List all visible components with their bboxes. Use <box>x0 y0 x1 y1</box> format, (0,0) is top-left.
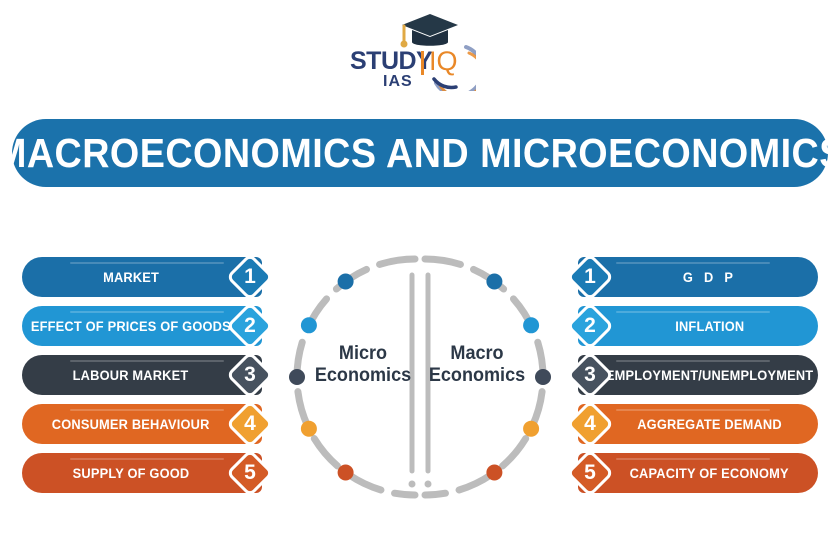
badge-number: 4 <box>228 402 272 446</box>
bar-highlight <box>616 311 770 313</box>
list-item[interactable]: EMPLOYMENT/UNEMPLOYMENT3 <box>548 353 818 397</box>
item-bar[interactable]: LABOUR MARKET <box>22 355 262 395</box>
item-number-badge[interactable]: 5 <box>228 451 272 495</box>
item-number-badge[interactable]: 2 <box>568 304 612 348</box>
arc-dot <box>523 317 539 333</box>
arc-dot <box>523 421 539 437</box>
list-item[interactable]: EFFECT OF PRICES OF GOODS2 <box>22 304 292 348</box>
brand-logo: STUDY IQ IAS <box>0 8 840 100</box>
item-label: SUPPLY OF GOOD <box>72 466 212 481</box>
item-number-badge[interactable]: 4 <box>568 402 612 446</box>
arc-dot <box>486 274 502 290</box>
item-label: CONSUMER BEHAVIOUR <box>52 417 233 432</box>
divider-dot-right <box>425 481 432 488</box>
logo-iq-text: IQ <box>429 48 458 75</box>
bar-highlight <box>616 360 770 362</box>
item-number-badge[interactable]: 2 <box>228 304 272 348</box>
arc-dot <box>289 369 305 385</box>
item-number-badge[interactable]: 4 <box>228 402 272 446</box>
item-number-badge[interactable]: 5 <box>568 451 612 495</box>
page-title-banner: MACROECONOMICS AND MICROECONOMICS <box>12 119 828 187</box>
item-number-badge[interactable]: 1 <box>568 255 612 299</box>
bar-highlight <box>70 360 224 362</box>
badge-number: 2 <box>228 304 272 348</box>
center-diagram: Micro Economics Macro Economics <box>282 253 558 501</box>
list-item[interactable]: LABOUR MARKET3 <box>22 353 292 397</box>
item-number-badge[interactable]: 3 <box>568 353 612 397</box>
badge-number: 1 <box>568 255 612 299</box>
list-item[interactable]: AGGREGATE DEMAND4 <box>548 402 818 446</box>
bar-highlight <box>616 409 770 411</box>
item-label: MARKET <box>103 270 182 285</box>
item-number-badge[interactable]: 3 <box>228 353 272 397</box>
item-bar[interactable]: AGGREGATE DEMAND <box>578 404 818 444</box>
logo-divider-bar <box>421 51 424 75</box>
badge-number: 2 <box>568 304 612 348</box>
item-bar[interactable]: EFFECT OF PRICES OF GOODS <box>22 306 262 346</box>
item-bar[interactable]: CAPACITY OF ECONOMY <box>578 453 818 493</box>
arc-dot <box>486 465 502 481</box>
macro-economics-list: G D P1INFLATION2EMPLOYMENT/UNEMPLOYMENT3… <box>548 255 818 500</box>
item-label: AGGREGATE DEMAND <box>614 417 781 432</box>
list-item[interactable]: CAPACITY OF ECONOMY5 <box>548 451 818 495</box>
item-label: INFLATION <box>652 319 744 334</box>
item-bar[interactable]: INFLATION <box>578 306 818 346</box>
item-label: EMPLOYMENT/UNEMPLOYMENT <box>583 368 813 383</box>
item-label: LABOUR MARKET <box>73 368 212 383</box>
bar-highlight <box>616 262 770 264</box>
list-item[interactable]: G D P1 <box>548 255 818 299</box>
bar-highlight <box>70 311 224 313</box>
micro-economics-label: Micro Economics <box>311 343 416 388</box>
list-item[interactable]: CONSUMER BEHAVIOUR4 <box>22 402 292 446</box>
item-bar[interactable]: EMPLOYMENT/UNEMPLOYMENT <box>578 355 818 395</box>
macro-economics-label: Macro Economics <box>425 343 530 388</box>
item-label: EFFECT OF PRICES OF GOODS <box>31 319 254 334</box>
list-item[interactable]: MARKET1 <box>22 255 292 299</box>
bar-highlight <box>70 458 224 460</box>
item-label: CAPACITY OF ECONOMY <box>607 466 789 481</box>
item-label: G D P <box>660 270 737 285</box>
arc-dot <box>301 421 317 437</box>
badge-number: 5 <box>228 451 272 495</box>
arc-dot <box>301 317 317 333</box>
list-item[interactable]: SUPPLY OF GOOD5 <box>22 451 292 495</box>
bar-highlight <box>70 409 224 411</box>
logo-study-text: STUDY <box>350 49 432 74</box>
item-bar[interactable]: SUPPLY OF GOOD <box>22 453 262 493</box>
bar-highlight <box>616 458 770 460</box>
badge-number: 1 <box>228 255 272 299</box>
badge-number: 3 <box>568 353 612 397</box>
micro-economics-list: MARKET1EFFECT OF PRICES OF GOODS2LABOUR … <box>22 255 292 500</box>
badge-number: 4 <box>568 402 612 446</box>
item-bar[interactable]: CONSUMER BEHAVIOUR <box>22 404 262 444</box>
item-number-badge[interactable]: 1 <box>228 255 272 299</box>
page-title: MACROECONOMICS AND MICROECONOMICS <box>0 130 840 177</box>
divider-dot-left <box>409 481 416 488</box>
arc-dot <box>338 465 354 481</box>
arc-dot <box>338 274 354 290</box>
item-bar[interactable]: MARKET <box>22 257 262 297</box>
item-bar[interactable]: G D P <box>578 257 818 297</box>
badge-number: 5 <box>568 451 612 495</box>
list-item[interactable]: INFLATION2 <box>548 304 818 348</box>
logo-ias-text: IAS <box>383 74 413 90</box>
bar-highlight <box>70 262 224 264</box>
badge-number: 3 <box>228 353 272 397</box>
